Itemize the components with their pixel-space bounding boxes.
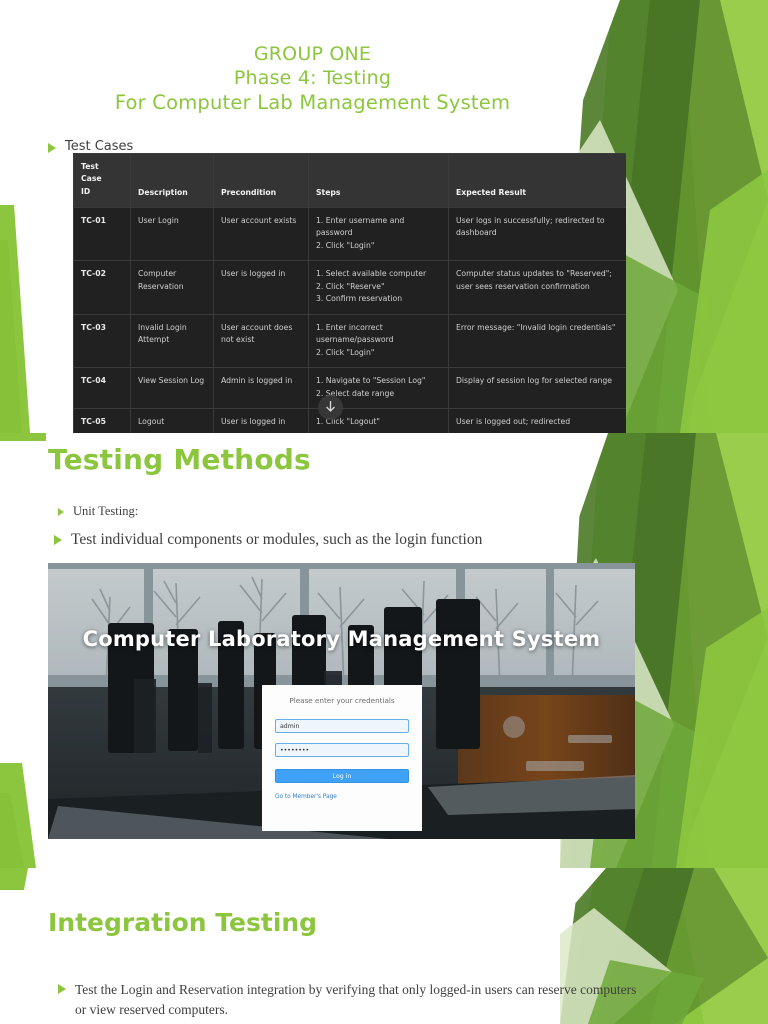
- download-arrow-glyph: [325, 401, 336, 414]
- col-header-id-line-2: Case: [81, 173, 123, 185]
- username-input[interactable]: [275, 719, 409, 733]
- step-item: 1. Navigate to "Session Log": [316, 375, 441, 387]
- cell-expected: Computer status updates to "Reserved"; u…: [449, 261, 627, 314]
- cell-description: Invalid Login Attempt: [131, 314, 214, 367]
- cell-expected: Error message: "Invalid login credential…: [449, 314, 627, 367]
- col-header-expected-result: Expected Result: [449, 154, 627, 208]
- bullet-test-cases: Test Cases: [48, 139, 133, 154]
- cell-description: User Login: [131, 208, 214, 261]
- col-header-precondition: Precondition: [214, 154, 309, 208]
- table-row: TC-01 User Login User account exists 1. …: [74, 208, 627, 261]
- app-title: Computer Laboratory Management System: [48, 627, 635, 651]
- triangle-bullet-icon: [58, 984, 66, 994]
- step-item: 3. Confirm reservation: [316, 293, 441, 305]
- test-cases-table: Test Case ID Description Precondition St…: [73, 153, 626, 433]
- login-page-screenshot: Computer Laboratory Management System Pl…: [48, 563, 635, 839]
- password-input[interactable]: [275, 743, 409, 757]
- step-item: 1. Enter incorrect username/password: [316, 322, 441, 347]
- bullet-unit-testing-detail-label: Test individual components or modules, s…: [71, 531, 482, 549]
- cell-id: TC-05: [74, 409, 131, 433]
- triangle-bullet-icon: [54, 535, 62, 545]
- col-header-description: Description: [131, 154, 214, 208]
- bullet-integration-detail: Test the Login and Reservation integrati…: [58, 980, 638, 1019]
- triangle-bullet-icon: [58, 508, 64, 516]
- download-arrow-icon[interactable]: [318, 395, 343, 420]
- cell-precondition: Admin is logged in: [214, 368, 309, 409]
- slide-testing-methods: Testing Methods Unit Testing: Test indiv…: [0, 433, 768, 868]
- cell-id: TC-02: [74, 261, 131, 314]
- slide-title-and-test-cases: GROUP ONE Phase 4: Testing For Computer …: [0, 0, 768, 433]
- page-title: Testing Methods: [48, 443, 311, 476]
- page-title: Integration Testing: [48, 908, 317, 937]
- bullet-unit-testing: Unit Testing:: [58, 504, 138, 519]
- cell-id: TC-04: [74, 368, 131, 409]
- title-line-1: GROUP ONE: [0, 42, 625, 66]
- cell-expected: Display of session log for selected rang…: [449, 368, 627, 409]
- table-row: TC-03 Invalid Login Attempt User account…: [74, 314, 627, 367]
- title-line-2: Phase 4: Testing: [0, 66, 625, 90]
- cell-precondition: User account exists: [214, 208, 309, 261]
- bullet-unit-testing-detail: Test individual components or modules, s…: [54, 531, 482, 549]
- col-header-steps: Steps: [309, 154, 449, 208]
- step-item: 2. Click "Reserve": [316, 281, 441, 293]
- cell-id: TC-01: [74, 208, 131, 261]
- slide-integration-testing: Integration Testing Test the Login and R…: [0, 868, 768, 1024]
- col-header-id-line-1: Test: [81, 161, 123, 173]
- left-green-sliver-icon: [0, 868, 60, 1024]
- step-item: 1. Enter username and password: [316, 215, 441, 240]
- triangle-bullet-icon: [48, 143, 56, 153]
- cell-steps: 1. Select available computer 2. Click "R…: [309, 261, 449, 314]
- cell-description: Computer Reservation: [131, 261, 214, 314]
- step-item: 1. Select available computer: [316, 268, 441, 280]
- cell-steps: 1. Enter incorrect username/password 2. …: [309, 314, 449, 367]
- slide1-title-block: GROUP ONE Phase 4: Testing For Computer …: [0, 42, 625, 116]
- step-item: 2. Click "Login": [316, 240, 441, 252]
- login-card: Please enter your credentials Log in Go …: [262, 685, 422, 831]
- cell-description: Logout: [131, 409, 214, 433]
- credentials-prompt: Please enter your credentials: [275, 696, 409, 705]
- test-cases-table-image: Test Case ID Description Precondition St…: [73, 153, 626, 433]
- title-line-3: For Computer Lab Management System: [0, 91, 625, 116]
- cell-id: TC-03: [74, 314, 131, 367]
- table-row: TC-05 Logout User is logged in 1. Click …: [74, 409, 627, 433]
- cell-expected: User is logged out; redirected: [449, 409, 627, 433]
- member-page-link[interactable]: Go to Member's Page: [275, 794, 409, 800]
- step-item: 2. Click "Login": [316, 347, 441, 359]
- bullet-integration-detail-label: Test the Login and Reservation integrati…: [75, 980, 638, 1019]
- cell-description: View Session Log: [131, 368, 214, 409]
- col-header-test-case-id: Test Case ID: [74, 154, 131, 208]
- table-header-row: Test Case ID Description Precondition St…: [74, 154, 627, 208]
- cell-expected: User logs in successfully; redirected to…: [449, 208, 627, 261]
- cell-steps: 1. Enter username and password 2. Click …: [309, 208, 449, 261]
- slide-deck: GROUP ONE Phase 4: Testing For Computer …: [0, 0, 768, 1024]
- bullet-unit-testing-label: Unit Testing:: [73, 504, 138, 519]
- col-header-id-line-3: ID: [81, 186, 123, 198]
- login-button[interactable]: Log in: [275, 769, 409, 783]
- bullet-test-cases-label: Test Cases: [65, 139, 133, 154]
- cell-precondition: User is logged in: [214, 409, 309, 433]
- table-row: TC-02 Computer Reservation User is logge…: [74, 261, 627, 314]
- cell-precondition: User account does not exist: [214, 314, 309, 367]
- cell-precondition: User is logged in: [214, 261, 309, 314]
- table-row: TC-04 View Session Log Admin is logged i…: [74, 368, 627, 409]
